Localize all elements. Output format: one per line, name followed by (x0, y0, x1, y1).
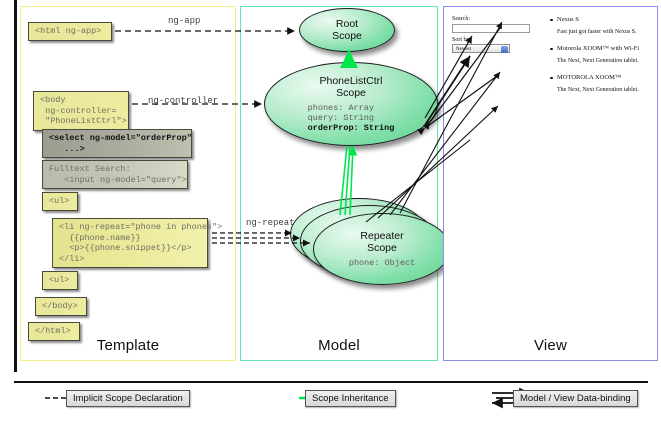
phonelistctrl-scope-ellipse: PhoneListCtrl Scope phones: Array query:… (264, 62, 438, 146)
phone-snippet: Fast just got faster with Nexus S. (549, 28, 651, 37)
code-fulltext-search: Fulltext Search: <input ng-model="query"… (42, 160, 188, 189)
code-ul-close: <ul> (42, 271, 78, 290)
edge-label-ng-repeat: ng-repeat (246, 218, 295, 228)
root-scope-title-line2: Scope (332, 30, 362, 42)
legend-item-model-view-data-binding: Model / View Data-binding (513, 390, 638, 407)
legend-item-implicit-scope-declaration: Implicit Scope Declaration (66, 390, 190, 407)
search-label: Search: (452, 15, 534, 23)
phone-name: Nexus S (549, 15, 651, 24)
root-scope-title-line1: Root (336, 18, 358, 30)
view-search-form: Search: Sort by: Newest (452, 15, 534, 53)
sort-by-label: Sort by: (452, 36, 534, 44)
repeater-prop-phone: phone: Object (349, 258, 415, 268)
phone-name: Motorola XOOM™ with Wi-Fi (549, 44, 651, 53)
code-html-tag: <html ng-app> (28, 22, 112, 41)
phone-name: MOTOROLA XOOM™ (549, 73, 651, 82)
phonelist-prop-orderprop: orderProp: String (308, 123, 395, 133)
phonelist-scope-title-line2: Scope (336, 87, 366, 99)
repeater-scope-title-line2: Scope (367, 242, 397, 254)
phone-snippet: The Next, Next Generation tablet. (549, 57, 651, 66)
search-input[interactable] (452, 24, 530, 33)
code-li-ng-repeat: <li ng-repeat="phone in phones"> {{phone… (52, 218, 208, 268)
column-label-model: Model (241, 337, 437, 354)
phone-list: Nexus S Fast just got faster with Nexus … (549, 15, 651, 102)
angular-scopes-diagram: Template <html ng-app> <body ng-controll… (0, 0, 661, 425)
code-ul-open: <ul> (42, 192, 78, 211)
root-scope-ellipse: Root Scope (299, 8, 395, 52)
sort-by-select[interactable]: Newest (452, 44, 510, 53)
legend-item-scope-inheritance: Scope Inheritance (305, 390, 396, 407)
repeater-scope-title-line1: Repeater (360, 230, 403, 242)
stepper-icon[interactable] (501, 46, 508, 53)
phonelist-prop-query: query: String (308, 113, 395, 123)
list-item[interactable]: MOTOROLA XOOM™ The Next, Next Generation… (549, 73, 651, 95)
phone-snippet: The Next, Next Generation tablet. (549, 86, 651, 95)
phonelist-scope-title-line1: PhoneListCtrl (319, 75, 382, 87)
code-html-close: </html> (28, 322, 80, 341)
list-item[interactable]: Motorola XOOM™ with Wi-Fi The Next, Next… (549, 44, 651, 66)
legend-divider (14, 381, 648, 383)
left-edge-bar (14, 0, 17, 372)
column-view: View Search: Sort by: Newest Nexus S Fas… (443, 6, 658, 361)
column-label-view: View (444, 337, 657, 354)
edge-label-ng-app: ng-app (168, 16, 200, 26)
repeater-scope-ellipse: Repeater Scope phone: Object (313, 213, 451, 285)
code-select-tag: <select ng-model="orderProp" ...> (42, 129, 192, 158)
phonelist-prop-phones: phones: Array (308, 103, 395, 113)
column-model: Model (240, 6, 438, 361)
sort-by-value: Newest (456, 47, 471, 52)
code-body-tag: <body ng-controller= "PhoneListCtrl"> (33, 91, 129, 131)
edge-label-ng-controller: ng-controller (148, 96, 218, 106)
code-body-close: </body> (35, 297, 87, 316)
list-item[interactable]: Nexus S Fast just got faster with Nexus … (549, 15, 651, 37)
